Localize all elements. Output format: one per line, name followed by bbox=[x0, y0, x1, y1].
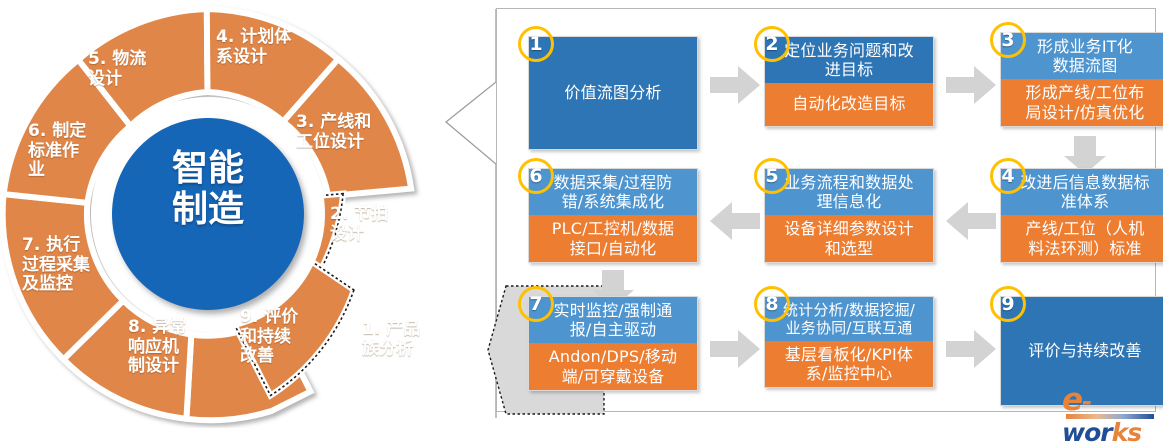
card-badge-3: 3 bbox=[990, 22, 1026, 58]
arrow-2-to-3 bbox=[946, 66, 996, 104]
card-badge-7: 7 bbox=[518, 286, 554, 322]
card-2-title: 定位业务问题和改 进目标 bbox=[765, 37, 933, 83]
eworks-logo-wor: wor bbox=[1062, 418, 1112, 447]
card-3-subtitle: 形成产线/工位布 局设计/仿真优化 bbox=[1001, 79, 1163, 125]
process-card-8[interactable]: 8 统计分析/数据挖掘/ 业务协同/互联互通 基层看板化/KPI体 系/监控中心 bbox=[764, 296, 934, 388]
process-card-7[interactable]: 7 实时监控/强制通 报/自主驱动 Andon/DPS/移动 端/可穿戴设备 bbox=[528, 296, 698, 391]
process-card-2[interactable]: 2 定位业务问题和改 进目标 自动化改造目标 bbox=[764, 36, 934, 127]
card-badge-4: 4 bbox=[990, 158, 1026, 194]
eworks-logo-bar bbox=[1066, 414, 1154, 419]
arrow-5-to-6 bbox=[710, 202, 760, 240]
eworks-logo-dash: - bbox=[1082, 387, 1091, 416]
card-badge-9: 9 bbox=[990, 286, 1026, 322]
arrow-7-to-8 bbox=[710, 330, 760, 368]
arrow-1-to-2 bbox=[710, 66, 760, 104]
card-7-subtitle: Andon/DPS/移动 端/可穿戴设备 bbox=[529, 343, 697, 389]
process-card-5[interactable]: 5 业务流程和数据处 理信息化 设备详细参数设计 和选型 bbox=[764, 168, 934, 263]
eworks-logo: e-works bbox=[1062, 380, 1158, 422]
process-grid: 1 价值流图分析 2 定位业务问题和改 进目标 自动化改造目标 3 形成业务IT… bbox=[496, 8, 1163, 420]
card-1-title: 价值流图分析 bbox=[529, 37, 697, 149]
card-8-subtitle: 基层看板化/KPI体 系/监控中心 bbox=[765, 341, 933, 387]
card-7-title: 实时监控/强制通 报/自主驱动 bbox=[529, 297, 697, 343]
card-badge-8: 8 bbox=[754, 286, 790, 322]
card-5-subtitle: 设备详细参数设计 和选型 bbox=[765, 215, 933, 261]
process-card-3[interactable]: 3 形成业务IT化 数据流图 形成产线/工位布 局设计/仿真优化 bbox=[1000, 32, 1163, 127]
diagram-canvas: 智能 制造 4. 计划体 系设计 5. 物流 设计 3. 产线和 工位设计 6.… bbox=[0, 0, 1163, 428]
card-badge-2: 2 bbox=[754, 26, 790, 62]
arrow-8-to-9 bbox=[946, 330, 996, 368]
process-card-4[interactable]: 4 改进后信息数据标 准体系 产线/工位（人机 料法环测）标准 bbox=[1000, 168, 1163, 263]
arrow-4-to-5 bbox=[946, 202, 996, 240]
card-badge-1: 1 bbox=[518, 26, 554, 62]
card-2-subtitle: 自动化改造目标 bbox=[765, 83, 933, 125]
card-badge-6: 6 bbox=[518, 158, 554, 194]
eworks-logo-text: e-works bbox=[1062, 382, 1158, 412]
card-6-title: 数据采集/过程防 错/系统集成化 bbox=[529, 169, 697, 215]
eworks-logo-e: e bbox=[1062, 382, 1082, 418]
eworks-logo-ks: ks bbox=[1112, 418, 1142, 447]
process-card-1[interactable]: 1 价值流图分析 bbox=[528, 36, 698, 150]
card-8-title: 统计分析/数据挖掘/ 业务协同/互联互通 bbox=[765, 297, 933, 341]
card-4-subtitle: 产线/工位（人机 料法环测）标准 bbox=[1001, 215, 1163, 261]
wheel-center-label: 智能 制造 bbox=[128, 148, 288, 230]
card-5-title: 业务流程和数据处 理信息化 bbox=[765, 169, 933, 215]
process-card-6[interactable]: 6 数据采集/过程防 错/系统集成化 PLC/工控机/数据 接口/自动化 bbox=[528, 168, 698, 263]
card-6-subtitle: PLC/工控机/数据 接口/自动化 bbox=[529, 215, 697, 261]
card-badge-5: 5 bbox=[754, 158, 790, 194]
